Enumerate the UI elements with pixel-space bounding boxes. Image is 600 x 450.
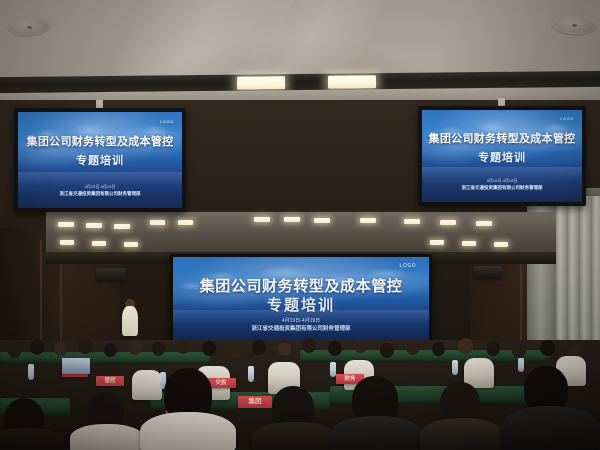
attendee-head [78,338,93,354]
chair-cover [132,370,162,400]
right-wall-monitor[interactable]: LOGO 集团公司财务转型及成本管控 专题培训 4月19日-4月19日 浙江省交… [418,106,586,206]
attendee-head [540,340,555,356]
attendee-head [432,342,445,356]
slide-logo: LOGO [560,116,574,121]
attendee-head [128,340,142,355]
wall-speaker-icon [474,266,502,279]
attendee-head [380,343,394,358]
downlight [60,240,74,245]
slide-date: 4月19日-4月19日 [18,184,182,190]
attendee-head [104,343,117,357]
slide-date: 4月19日-4月19日 [422,178,582,184]
slide-title: 集团公司财务转型及成本管控 [173,275,429,296]
downlight [58,222,74,227]
presenter [122,306,138,336]
downlight [360,218,376,223]
slide-subtitle: 专题培训 [173,294,429,315]
left-wall-monitor[interactable]: LOGO 集团公司财务转型及成本管控 专题培训 4月19日-4月19日 浙江省交… [14,108,186,212]
downlight [404,219,420,224]
wall-speaker-icon [96,268,126,281]
presentation-slide: LOGO 集团公司财务转型及成本管控 专题培训 4月19日-4月19日 浙江省交… [173,257,429,343]
slide-logo: LOGO [160,119,174,124]
attendee-head [328,341,342,356]
downlight [314,218,330,223]
slide-title: 集团公司财务转型及成本管控 [18,133,182,149]
door-seam [40,240,42,356]
attendee-head [54,342,67,356]
downlight [462,241,476,246]
downlight [114,224,130,229]
left-monitor-display: LOGO 集团公司财务转型及成本管控 专题培训 4月19日-4月19日 浙江省交… [18,112,182,208]
attendee [420,418,504,450]
attendee-head [512,343,526,358]
presentation-slide: LOGO 集团公司财务转型及成本管控 专题培训 4月19日-4月19日 浙江省交… [422,110,582,202]
attendee-head [458,338,473,354]
attendee-head [486,341,500,356]
attendee-head [176,339,190,354]
downlight [430,240,444,245]
presentation-slide: LOGO 集团公司财务转型及成本管控 专题培训 4月19日-4月19日 浙江省交… [18,112,182,208]
slide-title: 集团公司财务转型及成本管控 [422,130,582,146]
slide-date: 4月19日-4月19日 [173,317,429,324]
slide-subtitle: 专题培训 [18,152,182,168]
attendee [0,428,64,450]
attendee-head [252,340,266,355]
attendee-head [228,344,241,358]
water-bottle [452,360,458,375]
downlight [92,241,106,246]
attendee [500,406,600,450]
slide-subtitle: 专题培训 [422,149,582,165]
ceiling-light-panel [328,75,376,89]
attendee [330,416,422,450]
slide-organization: 浙江省交通投资集团有限公司财务管理部 [18,191,182,197]
attendee [140,412,236,450]
slide-organization: 浙江省交通投资集团有限公司财务管理部 [173,324,429,332]
attendee-head [302,338,316,353]
downlight [254,217,270,222]
attendee-head [30,340,44,355]
water-bottle [248,366,254,382]
downlight [178,220,193,225]
downlight [150,220,165,225]
water-bottle [28,364,34,380]
slide-organization: 浙江省交通投资集团有限公司财务管理部 [422,185,582,191]
downlight [86,223,102,228]
attendee [252,422,338,450]
downlight [124,242,138,247]
downlight [476,221,492,226]
ceiling-light-panel [237,76,285,90]
laptop [62,358,90,374]
water-bottle [518,358,524,372]
table-name-card: 管控 [96,376,124,386]
attendee-head [406,340,420,355]
attendee-head [152,342,165,356]
right-monitor-display: LOGO 集团公司财务转型及成本管控 专题培训 4月19日-4月19日 浙江省交… [422,110,582,202]
main-stage-screen[interactable]: LOGO 集团公司财务转型及成本管控 专题培训 4月19日-4月19日 浙江省交… [170,254,432,346]
attendee-head [8,344,21,358]
table-name-card: 集团 [238,396,272,408]
conference-room-photo: LOGO 集团公司财务转型及成本管控 专题培训 4月19日-4月19日 浙江省交… [0,0,600,450]
attendee-head [278,342,291,356]
attendee-head [354,339,367,353]
main-screen-display: LOGO 集团公司财务转型及成本管控 专题培训 4月19日-4月19日 浙江省交… [173,257,429,343]
slide-logo: LOGO [399,263,416,269]
downlight [440,220,456,225]
downlight [494,242,508,247]
attendee-head [202,341,216,356]
attendee [70,424,144,450]
water-bottle [330,362,336,377]
downlight [284,217,300,222]
